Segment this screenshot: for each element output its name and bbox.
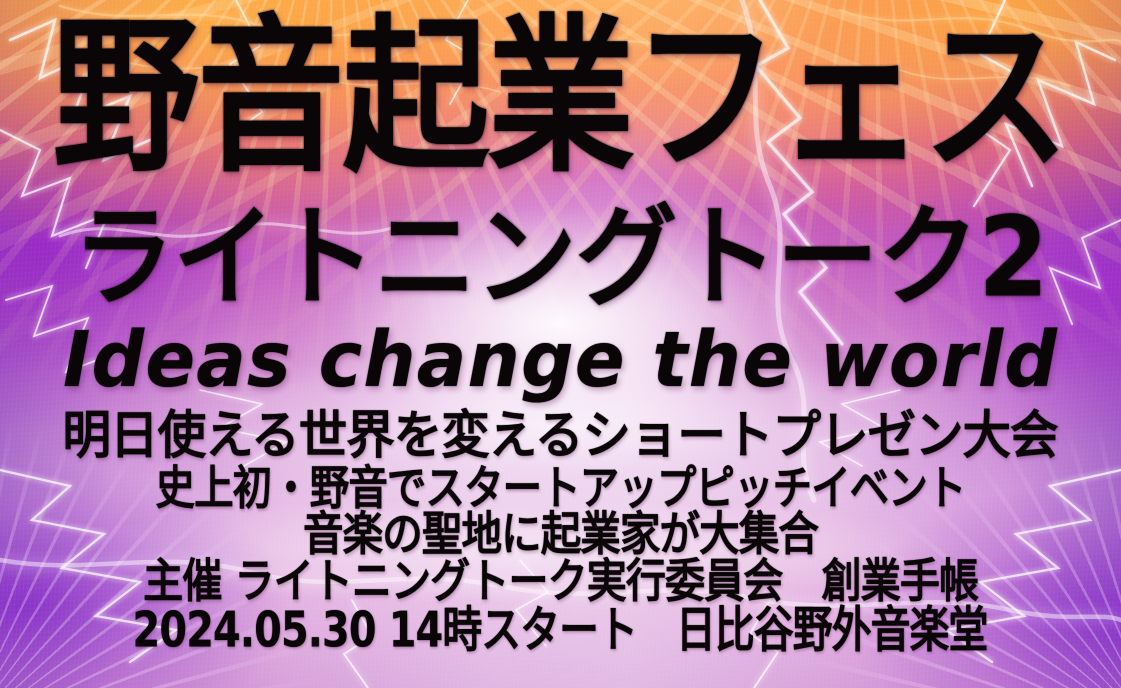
- poster-datetime-venue: 2024.05.30 14時スタート 日比谷野外音楽堂: [0, 605, 1121, 654]
- poster-subtitle: ライトニングトーク2: [0, 202, 1121, 312]
- poster-text-content: 野音起業フェス ライトニングトーク2 Ideas change the worl…: [0, 0, 1121, 688]
- event-poster: 野音起業フェス ライトニングトーク2 Ideas change the worl…: [0, 0, 1121, 688]
- poster-highlight-first: 史上初・野音でスタートアップピッチイベント: [0, 466, 1121, 513]
- poster-main-title: 野音起業フェス: [0, 14, 1121, 182]
- poster-description: 明日使える世界を変えるショートプレゼン大会: [0, 410, 1121, 462]
- poster-english-tagline: Ideas change the world: [0, 322, 1121, 399]
- poster-highlight-gather: 音楽の聖地に起業家が大集合: [0, 512, 1121, 559]
- poster-organizer: 主催 ライトニングトーク実行委員会 創業手帳: [0, 559, 1121, 606]
